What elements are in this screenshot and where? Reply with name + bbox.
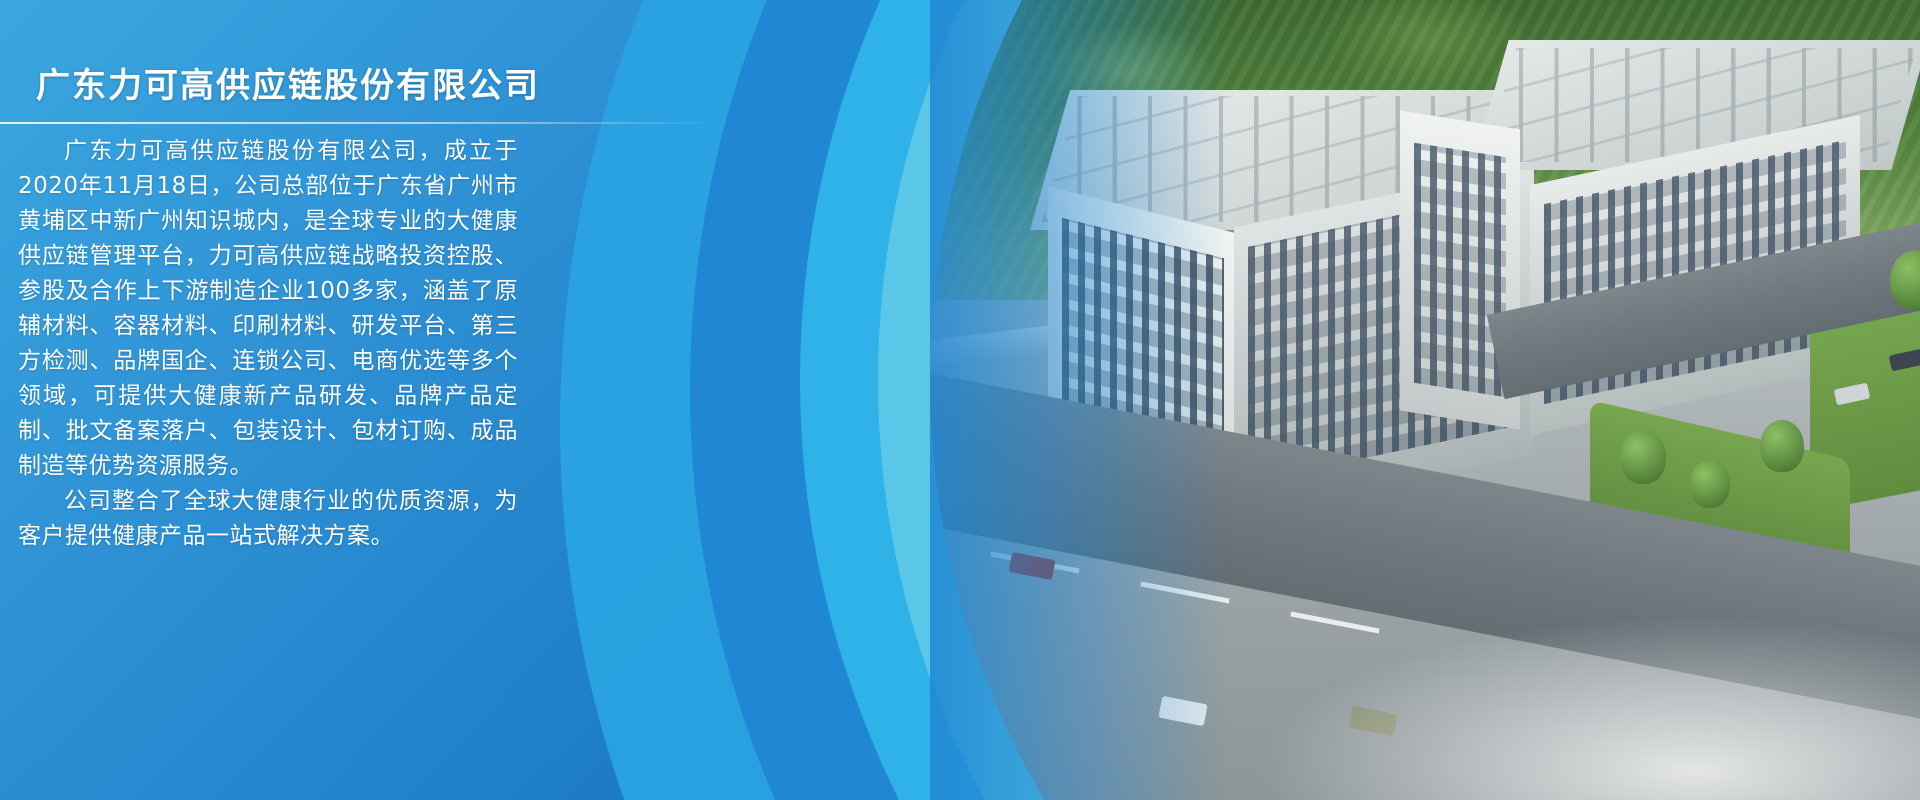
hero-photo-mask — [930, 0, 1920, 800]
about-paragraph-2: 公司整合了全球大健康行业的优质资源，为客户提供健康产品一站式解决方案。 — [18, 484, 518, 554]
intro-panel: 广东力可高供应链股份有限公司 广东力可高供应链股份有限公司，成立于2020年11… — [0, 0, 620, 800]
page-title: 广东力可高供应链股份有限公司 — [36, 58, 596, 107]
atmospheric-haze — [930, 430, 1920, 800]
banner-section: 广东力可高供应链股份有限公司 广东力可高供应链股份有限公司，成立于2020年11… — [0, 0, 1920, 800]
about-body: 广东力可高供应链股份有限公司，成立于2020年11月18日，公司总部位于广东省广… — [18, 134, 518, 554]
about-paragraph-1: 广东力可高供应链股份有限公司，成立于2020年11月18日，公司总部位于广东省广… — [18, 134, 518, 484]
connector-tower-windows — [1414, 143, 1506, 398]
hero-photo-industrial-park — [930, 0, 1920, 800]
title-divider — [0, 122, 720, 124]
